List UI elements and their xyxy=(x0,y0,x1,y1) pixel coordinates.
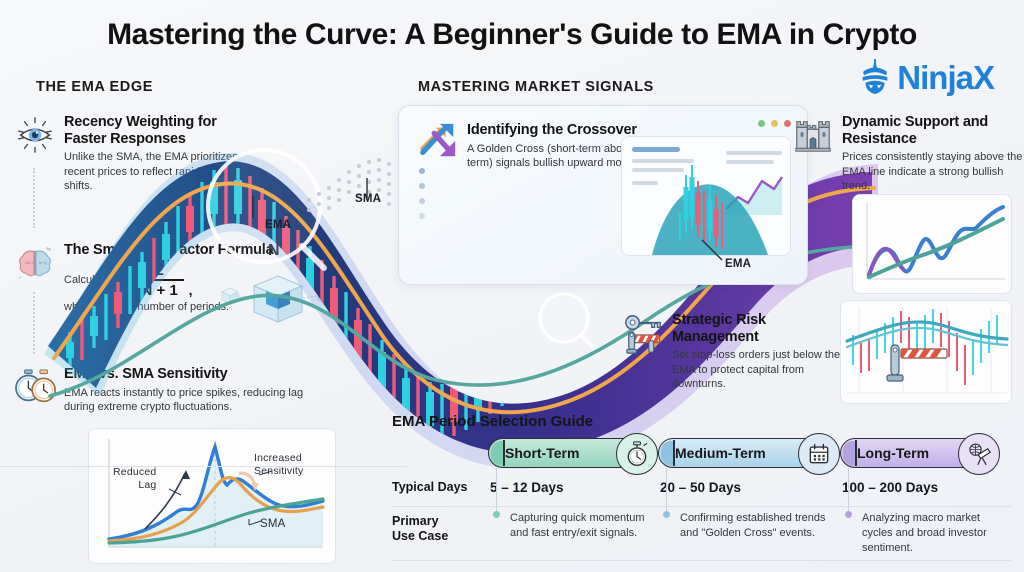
ema-main-label: EMA xyxy=(265,219,291,231)
feature-title: Recency Weighting for Faster Responses xyxy=(64,114,254,147)
cube-n-label: N xyxy=(268,242,280,260)
ninjax-logo: NinjaX xyxy=(856,58,994,96)
stem-dot-medium-term xyxy=(663,511,670,518)
row-label-primary-use-case: Primary Use Case xyxy=(392,514,448,544)
formula-denominator: N + 1 xyxy=(142,281,178,298)
svg-text:a+ t.j: a+ t.j xyxy=(39,261,47,265)
feature-title: The Smoothing Factor Formula xyxy=(64,242,274,259)
svg-text:%: % xyxy=(46,247,51,253)
feature-dynamic-support: Dynamic Support and Resistance Prices co… xyxy=(792,114,1014,194)
formula-numerator: 2 xyxy=(155,263,163,279)
pill-label: Medium-Term xyxy=(675,445,766,461)
page-title: Mastering the Curve: A Beginner's Guide … xyxy=(0,18,1024,52)
stopwatch-icon xyxy=(616,433,658,475)
section-kicker-left: THE EMA EDGE xyxy=(36,79,153,95)
feature-ema-vs-sma: EMA vs. SMA Sensitivity EMA reacts insta… xyxy=(14,366,319,415)
dashboard-mock xyxy=(621,136,791,256)
feature-strategic-risk: Strategic Risk Management Set stop-loss … xyxy=(622,312,832,392)
key-barrier-icon xyxy=(622,312,664,354)
pill-cap-line xyxy=(673,440,675,466)
stem-short-term xyxy=(496,468,497,512)
pill-short-term[interactable]: Short-Term xyxy=(488,438,640,468)
ninja-mask-icon xyxy=(856,58,894,96)
stop-loss-chart xyxy=(840,300,1012,404)
feature-body: Prices consistently staying above the EM… xyxy=(842,150,1024,194)
formula-comma: , xyxy=(189,282,193,298)
window-dot-red xyxy=(784,120,791,127)
smoothing-formula: Calculated as 2 N + 1 , xyxy=(64,263,274,298)
pill-cap xyxy=(661,441,673,465)
ema-main-leader xyxy=(246,196,260,220)
days-long-term: 100 – 200 Days xyxy=(842,480,938,495)
brain-icon: a E C a+ t.j % ÷ xyxy=(14,242,56,284)
guide-divider-top-left xyxy=(0,466,408,467)
feature-title: Strategic Risk Management xyxy=(672,312,842,345)
section-kicker-middle: MASTERING MARKET SIGNALS xyxy=(418,79,654,95)
eye-icon xyxy=(14,114,56,156)
pill-medium-term[interactable]: Medium-Term xyxy=(658,438,822,468)
calendar-icon xyxy=(798,433,840,475)
use-case-medium-term: Confirming established trends and "Golde… xyxy=(680,511,826,541)
pill-label: Short-Term xyxy=(505,445,579,461)
feature-body: Set stop-loss orders just below the EMA … xyxy=(672,348,842,392)
pill-cap-line xyxy=(503,440,505,466)
days-medium-term: 20 – 50 Days xyxy=(660,480,741,495)
window-dot-green xyxy=(758,120,765,127)
svg-text:÷: ÷ xyxy=(19,276,22,281)
telescope-icon xyxy=(958,433,1000,475)
feature-body: Unlike the SMA, the EMA prioritizes rece… xyxy=(64,150,254,194)
days-short-term: 5 – 12 Days xyxy=(490,480,564,495)
feature-body: EMA reacts instantly to price spikes, re… xyxy=(64,386,319,415)
dot-texture xyxy=(305,150,405,220)
crossing-arrows-icon xyxy=(417,120,459,162)
svg-text:a E C: a E C xyxy=(25,261,34,265)
feature-recency-weighting: Recency Weighting for Faster Responses U… xyxy=(14,114,254,194)
guide-divider-bottom xyxy=(392,560,1012,561)
formula-note: where N is the number of periods. xyxy=(64,301,274,313)
sma-main-label: SMA xyxy=(355,193,381,205)
ema-sma-sensitivity-chart xyxy=(88,428,336,564)
stem-long-term xyxy=(848,468,849,512)
pill-long-term[interactable]: Long-Term xyxy=(840,438,982,468)
guide-title: EMA Period Selection Guide xyxy=(392,413,593,430)
pill-cap xyxy=(843,441,855,465)
formula-lead: Calculated as xyxy=(64,274,131,286)
logo-wordmark: NinjaX xyxy=(897,61,994,94)
left-chart-sma-label: SMA xyxy=(260,518,286,530)
pill-cap xyxy=(491,441,503,465)
stem-dot-short-term xyxy=(493,511,500,518)
infographic-root: Mastering the Curve: A Beginner's Guide … xyxy=(0,0,1024,572)
row-label-typical-days: Typical Days xyxy=(392,480,468,495)
use-case-short-term: Capturing quick momentum and fast entry/… xyxy=(510,511,656,541)
window-dot-yellow xyxy=(771,120,778,127)
guide-divider-mid xyxy=(392,506,1012,507)
stem-medium-term xyxy=(666,468,667,512)
ema-card-label: EMA xyxy=(725,258,751,270)
stem-dot-long-term xyxy=(845,511,852,518)
use-case-long-term: Analyzing macro market cycles and broad … xyxy=(862,511,1008,556)
window-dots xyxy=(758,120,791,127)
feature-title: Dynamic Support and Resistance xyxy=(842,114,1024,147)
support-resistance-chart xyxy=(852,194,1012,294)
stopwatch-icon xyxy=(14,366,56,408)
feature-title: EMA vs. SMA Sensitivity xyxy=(64,366,319,383)
reduced-lag-label: Reduced Lag xyxy=(113,466,156,491)
pill-label: Long-Term xyxy=(857,445,929,461)
increased-sensitivity-label: Increased Sensitivity xyxy=(254,452,303,477)
castle-icon xyxy=(792,114,834,156)
formula-fraction: 2 N + 1 xyxy=(136,263,184,298)
pill-cap-line xyxy=(855,440,857,466)
card-dot-rail xyxy=(419,168,425,219)
